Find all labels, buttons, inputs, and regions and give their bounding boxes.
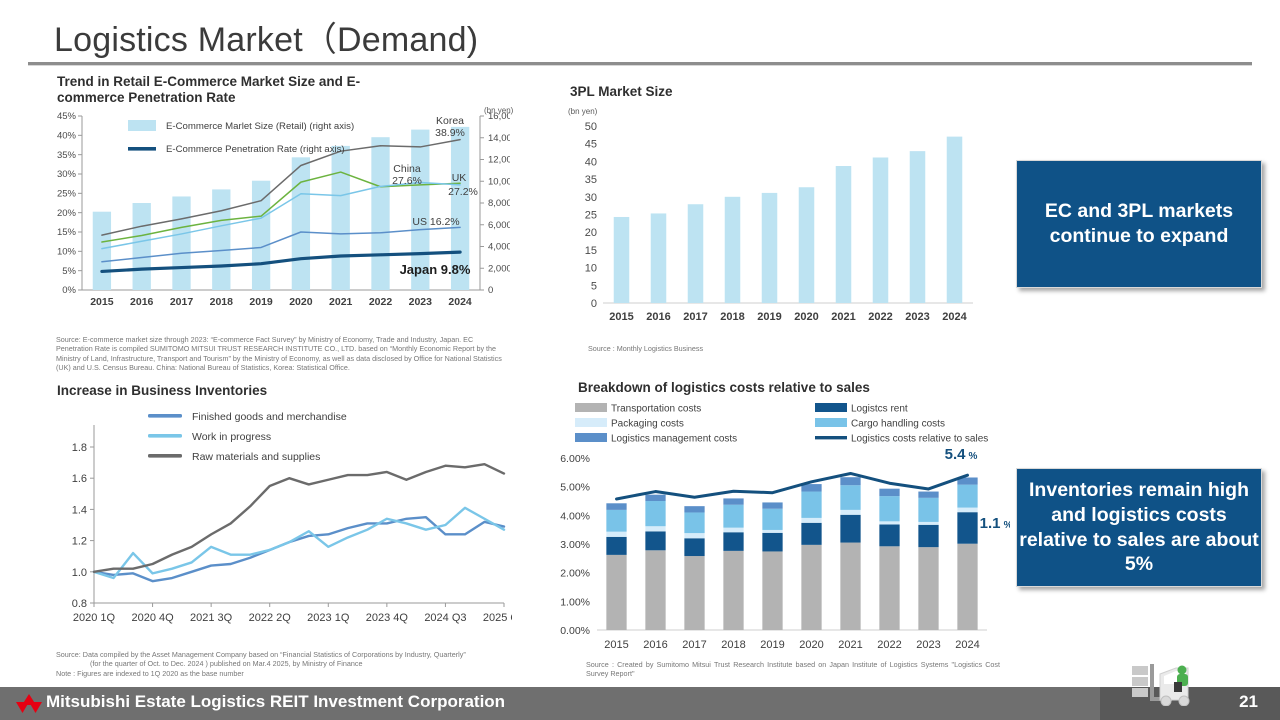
inventories-source-line-1: Source: Data compiled by the Asset Manag… [56, 650, 506, 659]
costs-bar-segment[interactable] [918, 498, 938, 522]
costs-x-tick-label: 2017 [682, 639, 706, 651]
costs-bar-segment[interactable] [957, 544, 977, 630]
footer-company-name: Mitsubishi Estate Logistics REIT Investm… [46, 692, 505, 712]
costs-bar-segment[interactable] [879, 496, 899, 521]
costs-bar-segment[interactable] [762, 509, 782, 530]
inv-legend-label: Work in progress [192, 431, 271, 443]
costs-legend-swatch [815, 436, 847, 439]
tpl-x-tick-label: 2019 [757, 311, 781, 323]
costs-bar-segment[interactable] [801, 518, 821, 523]
costs-y-tick-label: 3.00% [560, 539, 590, 551]
costs-bar-segment[interactable] [918, 522, 938, 525]
tpl-bar[interactable] [836, 166, 852, 303]
inv-x-tick-label: 2020 1Q [73, 612, 116, 624]
inv-legend-label: Finished goods and merchandise [192, 411, 347, 423]
ec-y2-tick-label: 4,000 [488, 242, 510, 253]
ec-bar[interactable] [292, 157, 310, 290]
ec-label-china-value: 27.6% [392, 175, 422, 187]
tpl-x-tick-label: 2022 [868, 311, 892, 323]
callout-inventories: Inventories remain high and logistics co… [1016, 468, 1262, 587]
costs-x-tick-label: 2020 [799, 639, 823, 651]
costs-legend-label: Logistics costs relative to sales [851, 433, 988, 444]
inv-x-tick-label: 2024 Q3 [424, 612, 466, 624]
inventories-chart-title: Increase in Business Inventories [57, 383, 267, 399]
costs-y-tick-label: 4.00% [560, 510, 590, 522]
ec-x-tick-label: 2022 [369, 296, 393, 308]
costs-annotation-total-unit: % [969, 451, 978, 462]
ec-chart-source: Source: E-commerce market size through 2… [56, 335, 508, 373]
costs-bar-segment[interactable] [606, 510, 626, 532]
costs-bar-segment[interactable] [801, 492, 821, 518]
costs-bar-segment[interactable] [723, 551, 743, 630]
ec-y-tick-label: 20% [57, 208, 77, 219]
inventories-source-line-2: (for the quarter of Oct. to Dec. 2024 ) … [56, 659, 506, 668]
costs-bar-segment[interactable] [840, 485, 860, 510]
tpl-x-tick-label: 2015 [609, 311, 633, 323]
costs-x-tick-label: 2016 [643, 639, 667, 651]
costs-bar-segment[interactable] [645, 501, 665, 526]
tpl-bar[interactable] [762, 193, 778, 303]
inv-y-tick-label: 1.6 [72, 473, 87, 485]
costs-bar-segment[interactable] [606, 537, 626, 555]
costs-bar-segment[interactable] [957, 508, 977, 513]
tpl-axis-unit: (bn yen) [568, 107, 597, 116]
tpl-x-tick-label: 2021 [831, 311, 855, 323]
ec-y2-tick-label: 2,000 [488, 263, 510, 274]
ec-x-tick-label: 2024 [448, 296, 472, 308]
tpl-y-tick-label: 20 [585, 227, 597, 239]
inv-x-tick-label: 2021 3Q [190, 612, 233, 624]
costs-bar-segment[interactable] [879, 521, 899, 524]
ec-legend-swatch-line [128, 147, 156, 151]
mitsubishi-logo-icon [16, 692, 42, 714]
inv-x-tick-label: 2022 2Q [249, 612, 292, 624]
costs-bar-segment[interactable] [762, 530, 782, 533]
tpl-chart[interactable]: 0510152025303540455020152016201720182019… [565, 118, 985, 336]
ec-x-tick-label: 2018 [210, 296, 234, 308]
tpl-y-tick-label: 10 [585, 263, 597, 275]
inv-y-tick-label: 1.0 [72, 567, 87, 579]
tpl-y-tick-label: 35 [585, 174, 597, 186]
costs-bar-segment[interactable] [645, 526, 665, 531]
ec-x-tick-label: 2015 [90, 296, 114, 308]
ec-y2-tick-label: 0 [488, 285, 493, 296]
tpl-chart-title: 3PL Market Size [570, 84, 673, 100]
costs-x-tick-label: 2024 [955, 639, 979, 651]
costs-bar-segment[interactable] [684, 538, 704, 556]
ec-y-tick-label: 35% [57, 150, 77, 161]
inv-legend-swatch [148, 434, 182, 438]
tpl-x-tick-label: 2018 [720, 311, 744, 323]
costs-bar-segment[interactable] [957, 512, 977, 544]
ec-y2-tick-label: 10,000 [488, 176, 510, 187]
costs-legend-swatch [575, 418, 607, 427]
tpl-x-tick-label: 2017 [683, 311, 707, 323]
inv-legend-swatch [148, 414, 182, 418]
ec-label-korea: Korea [436, 115, 464, 127]
costs-bar-segment[interactable] [879, 489, 899, 496]
costs-legend-label: Transportation costs [611, 403, 701, 414]
tpl-chart-source: Source : Monthly Logistics Business [588, 344, 988, 353]
costs-legend-swatch [815, 403, 847, 412]
tpl-x-tick-label: 2020 [794, 311, 818, 323]
inv-x-tick-label: 2020 4Q [131, 612, 174, 624]
costs-bar-segment[interactable] [723, 498, 743, 504]
ec-y-tick-label: 40% [57, 131, 77, 142]
costs-y-tick-label: 2.00% [560, 568, 590, 580]
forklift-icon [1130, 660, 1200, 706]
costs-annotation-rent-unit: % [1004, 520, 1010, 531]
ec-legend-label-bar: E-Commerce Marlet Size (Retail) (right a… [166, 121, 354, 132]
costs-chart-source: Source : Created by Sumitomo Mitsui Trus… [586, 660, 1000, 679]
costs-bar-segment[interactable] [762, 533, 782, 552]
tpl-x-tick-label: 2024 [942, 311, 967, 323]
ec-label-korea-value: 38.9% [435, 127, 465, 139]
costs-y-tick-label: 0.00% [560, 625, 590, 637]
ec-bar[interactable] [371, 137, 389, 290]
ec-y-tick-label: 10% [57, 247, 77, 258]
tpl-x-tick-label: 2016 [646, 311, 670, 323]
callout-ec-3pl: EC and 3PL markets continue to expand [1016, 160, 1262, 288]
ec-bar[interactable] [133, 203, 151, 290]
costs-legend-swatch [575, 403, 607, 412]
costs-bar-segment[interactable] [840, 515, 860, 543]
inv-line-work[interactable] [94, 508, 504, 578]
costs-bar-segment[interactable] [840, 510, 860, 515]
ec-x-tick-label: 2017 [170, 296, 194, 308]
tpl-bar[interactable] [910, 151, 926, 303]
costs-bar-segment[interactable] [801, 523, 821, 545]
inv-x-tick-label: 2023 1Q [307, 612, 350, 624]
ec-line-uk[interactable] [102, 183, 460, 249]
costs-bar-segment[interactable] [606, 503, 626, 510]
tpl-y-tick-label: 5 [591, 280, 597, 292]
ec-y2-tick-label: 16,000 [488, 111, 510, 122]
costs-bar-segment[interactable] [684, 506, 704, 512]
page-number: 21 [1239, 692, 1258, 712]
costs-bar-segment[interactable] [723, 528, 743, 533]
tpl-y-tick-label: 0 [591, 298, 597, 310]
inv-x-tick-label: 2023 4Q [366, 612, 409, 624]
costs-bar-segment[interactable] [762, 502, 782, 508]
costs-chart-title: Breakdown of logistics costs relative to… [578, 380, 870, 396]
ec-bar[interactable] [252, 181, 270, 290]
ec-x-tick-label: 2023 [409, 296, 433, 308]
costs-bar-segment[interactable] [918, 492, 938, 498]
costs-legend-label: Cargo handling costs [851, 418, 945, 429]
costs-bar-segment[interactable] [840, 477, 860, 485]
ec-y-tick-label: 0% [62, 285, 76, 296]
ec-label-uk-value: 27.2% [448, 186, 478, 198]
costs-bar-segment[interactable] [684, 533, 704, 538]
ec-y-tick-label: 45% [57, 111, 77, 122]
costs-bar-segment[interactable] [957, 485, 977, 508]
inv-x-tick-label: 2025 Q2 [483, 612, 512, 624]
ec-chart-title: Trend in Retail E-Commerce Market Size a… [57, 74, 397, 106]
tpl-bar[interactable] [947, 137, 963, 303]
tpl-y-tick-label: 25 [585, 210, 597, 222]
ec-label-us: US 16.2% [412, 216, 459, 228]
ec-x-tick-label: 2019 [249, 296, 273, 308]
costs-bar-segment[interactable] [879, 525, 899, 547]
costs-bar-segment[interactable] [723, 532, 743, 551]
inv-line-raw[interactable] [94, 464, 504, 572]
costs-bar-segment[interactable] [723, 505, 743, 528]
costs-legend-label: Packaging costs [611, 418, 684, 429]
inventories-chart[interactable]: 0.81.01.21.41.61.82020 1Q2020 4Q2021 3Q2… [52, 405, 512, 640]
ec-y2-tick-label: 8,000 [488, 198, 510, 209]
costs-x-tick-label: 2019 [760, 639, 784, 651]
costs-legend-label: Logistics management costs [611, 433, 737, 444]
tpl-y-tick-label: 50 [585, 121, 597, 133]
ec-y-tick-label: 5% [62, 266, 76, 277]
costs-y-tick-label: 5.00% [560, 482, 590, 494]
page-title: Logistics Market（Demand) [54, 12, 478, 61]
tpl-bar[interactable] [799, 187, 815, 303]
ec-y-tick-label: 15% [57, 227, 77, 238]
costs-x-tick-label: 2022 [877, 639, 901, 651]
ec-label-japan: Japan 9.8% [400, 262, 471, 277]
ec-x-tick-label: 2021 [329, 296, 353, 308]
tpl-bar[interactable] [873, 158, 889, 303]
inventories-source-line-3: Note : Figures are indexed to 1Q 2020 as… [56, 669, 506, 678]
ec-label-uk: UK [452, 172, 467, 184]
ec-legend-swatch-bar [128, 120, 156, 131]
costs-bar-segment[interactable] [645, 495, 665, 501]
ec-label-china: China [393, 163, 421, 175]
costs-annotation-rent: 1.1 [980, 515, 1001, 532]
inv-legend-label: Raw materials and supplies [192, 451, 320, 463]
costs-bar-segment[interactable] [645, 550, 665, 630]
tpl-bar[interactable] [614, 217, 630, 303]
tpl-bar[interactable] [651, 213, 667, 303]
costs-legend-swatch [575, 433, 607, 442]
tpl-y-tick-label: 30 [585, 192, 597, 204]
ec-bar[interactable] [93, 212, 111, 290]
ec-y2-tick-label: 12,000 [488, 155, 510, 166]
costs-legend-label: Logistcs rent [851, 403, 908, 414]
costs-ratio-line[interactable] [617, 473, 968, 499]
title-divider [28, 62, 1252, 65]
ec-bar[interactable] [172, 196, 190, 290]
costs-bar-segment[interactable] [645, 531, 665, 550]
costs-bar-segment[interactable] [918, 547, 938, 630]
ec-y2-tick-label: 6,000 [488, 220, 510, 231]
tpl-y-tick-label: 45 [585, 139, 597, 151]
costs-bar-segment[interactable] [684, 556, 704, 630]
tpl-x-tick-label: 2023 [905, 311, 929, 323]
costs-bar-segment[interactable] [606, 555, 626, 630]
ec-bar[interactable] [212, 189, 230, 290]
costs-bar-segment[interactable] [918, 525, 938, 547]
costs-bar-segment[interactable] [606, 532, 626, 537]
costs-bar-segment[interactable] [801, 545, 821, 630]
ec-y-tick-label: 25% [57, 189, 77, 200]
tpl-y-tick-label: 15 [585, 245, 597, 257]
costs-bar-segment[interactable] [840, 543, 860, 630]
ec-y-tick-label: 30% [57, 169, 77, 180]
costs-legend-swatch [815, 418, 847, 427]
costs-y-tick-label: 6.00% [560, 453, 590, 465]
costs-bar-segment[interactable] [762, 551, 782, 630]
inv-y-tick-label: 1.2 [72, 536, 87, 548]
costs-bar-segment[interactable] [684, 512, 704, 533]
tpl-bar[interactable] [725, 197, 741, 303]
inv-y-tick-label: 0.8 [72, 598, 87, 610]
costs-y-tick-label: 1.00% [560, 596, 590, 608]
inv-y-tick-label: 1.8 [72, 442, 87, 454]
ec-y2-tick-label: 14,000 [488, 133, 510, 144]
ec-x-tick-label: 2020 [289, 296, 313, 308]
costs-x-tick-label: 2023 [916, 639, 940, 651]
costs-annotation-total: 5.4 [945, 446, 967, 463]
costs-bar-segment[interactable] [879, 546, 899, 630]
costs-x-tick-label: 2015 [604, 639, 628, 651]
ec-bar[interactable] [332, 146, 350, 290]
inv-legend-swatch [148, 454, 182, 458]
ec-x-tick-label: 2016 [130, 296, 154, 308]
tpl-y-tick-label: 40 [585, 156, 597, 168]
costs-chart[interactable]: Transportation costsLogistcs rentPackagi… [535, 400, 1010, 658]
costs-x-tick-label: 2018 [721, 639, 745, 651]
ec-chart[interactable]: 0%5%10%15%20%25%30%35%40%45%02,0004,0006… [50, 108, 510, 323]
costs-x-tick-label: 2021 [838, 639, 862, 651]
tpl-bar[interactable] [688, 204, 704, 303]
inv-y-tick-label: 1.4 [72, 504, 87, 516]
ec-legend-label-line: E-Commerce Penetration Rate (right axis) [166, 144, 345, 155]
